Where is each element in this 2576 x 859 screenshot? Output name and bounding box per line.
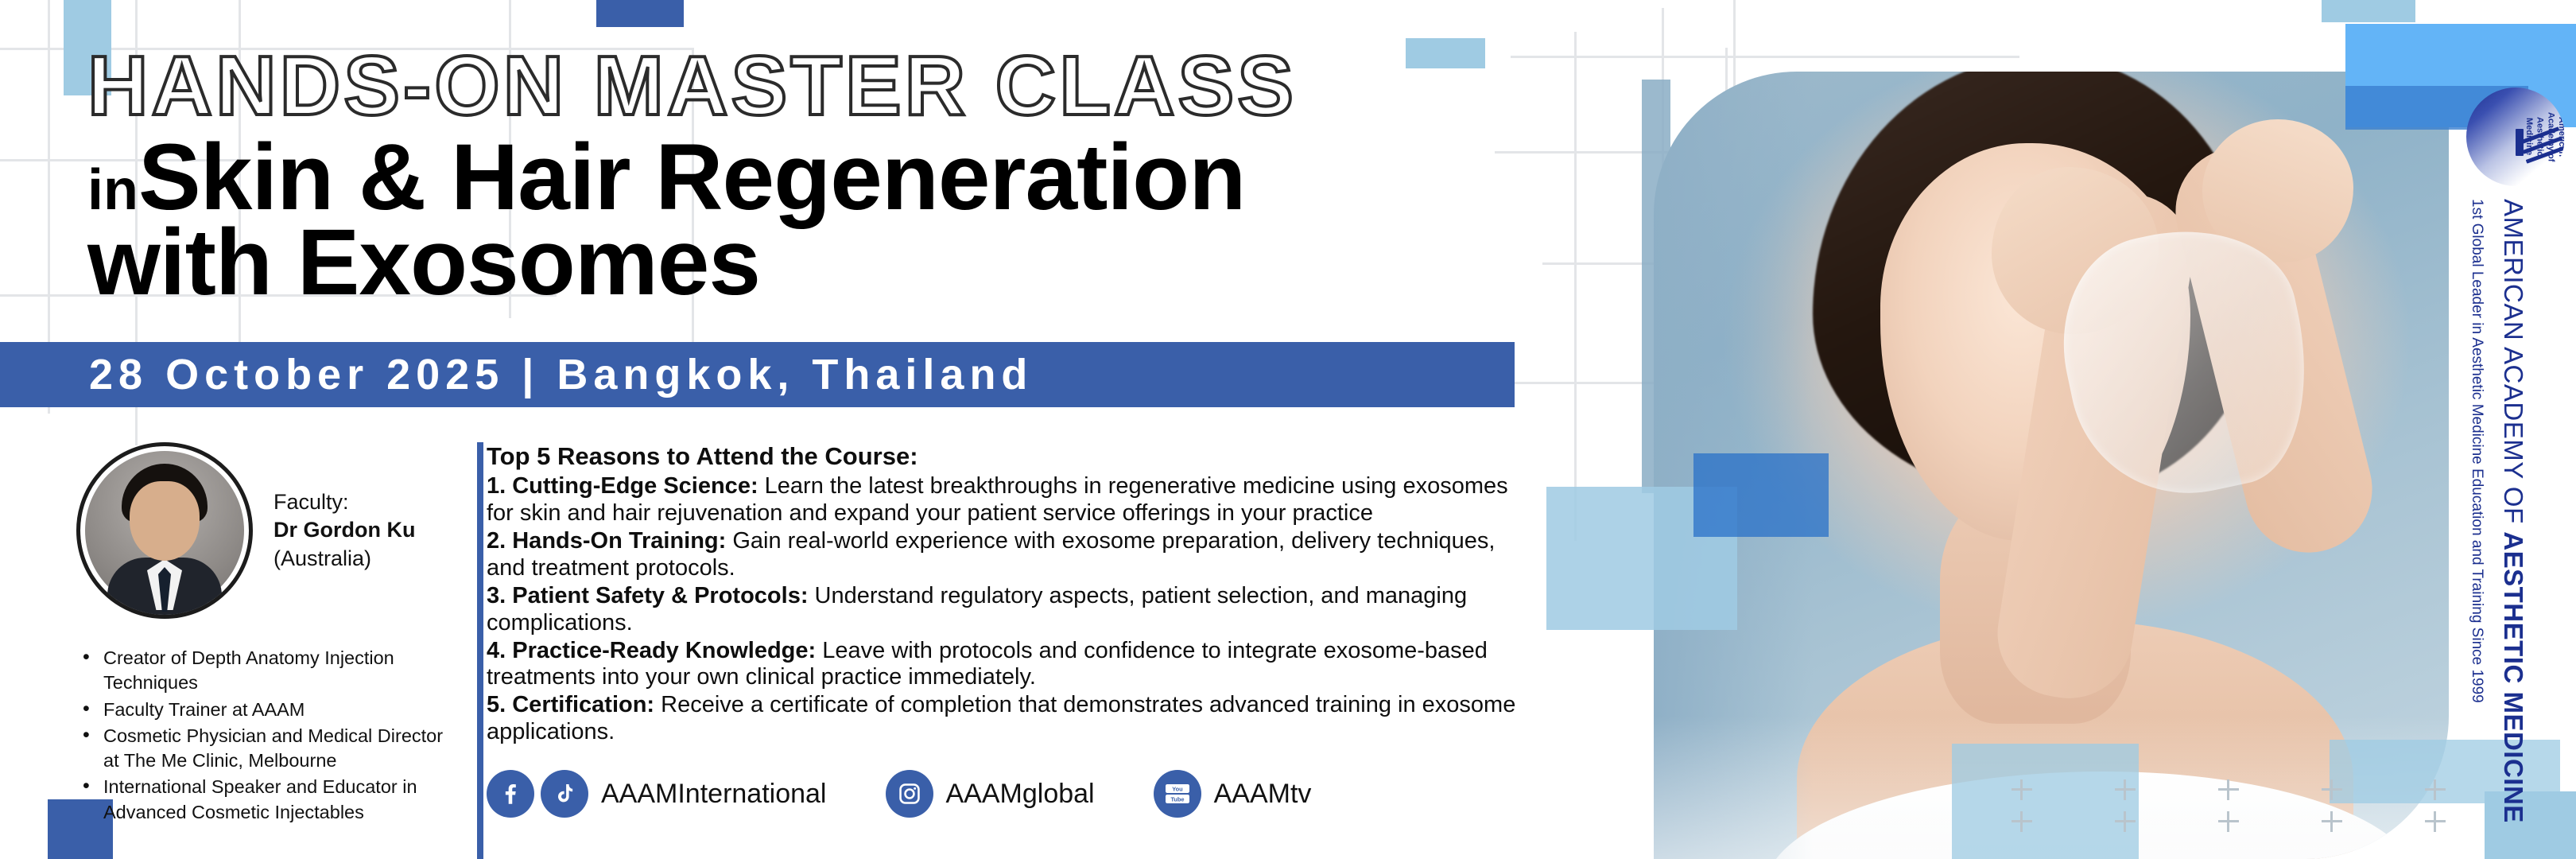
social-group-youtube: You Tube AAAMtv: [1154, 770, 1371, 818]
reasons-section: Top 5 Reasons to Attend the Course: 1. C…: [487, 442, 1536, 747]
reason-item: 1. Cutting-Edge Science: Learn the lates…: [487, 473, 1536, 527]
reason-lead: 3. Patient Safety & Protocols:: [487, 583, 809, 608]
social-group-facebook-tiktok: AAAMInternational: [487, 770, 886, 818]
svg-text:Tube: Tube: [1170, 796, 1184, 803]
list-item: International Speaker and Educator in Ad…: [76, 775, 458, 825]
faculty-credentials-list: Creator of Depth Anatomy Injection Techn…: [76, 646, 458, 825]
aaam-logo-icon: American Academy of Aesthetic Medicine: [2466, 87, 2565, 186]
reason-lead: 1. Cutting-Edge Science:: [487, 473, 758, 499]
list-item: Faculty Trainer at AAAM: [76, 698, 458, 722]
social-links: AAAMInternational AAAMglobal You Tube AA…: [487, 770, 1370, 818]
social-handle[interactable]: AAAMInternational: [601, 779, 827, 810]
faculty-name: Dr Gordon Ku: [274, 516, 415, 545]
faculty-country: (Australia): [274, 545, 415, 573]
instagram-icon[interactable]: [886, 770, 933, 818]
brand-title-regular: AMERICAN ACADEMY OF: [2499, 199, 2528, 531]
svg-text:You: You: [1172, 786, 1183, 793]
reason-lead: 2. Hands-On Training:: [487, 528, 726, 554]
promotional-banner: HANDS-ON MASTER CLASS inSkin & Hair Rege…: [0, 0, 2576, 859]
faculty-meta: Faculty: Dr Gordon Ku (Australia): [274, 488, 415, 573]
social-handle[interactable]: AAAMtv: [1214, 779, 1312, 810]
reason-lead: 4. Practice-Ready Knowledge:: [487, 638, 816, 663]
date-location-bar: 28 October 2025 | Bangkok, Thailand: [0, 342, 1515, 407]
faculty-section: Faculty: Dr Gordon Ku (Australia) Creato…: [76, 442, 458, 843]
vertical-divider: [477, 442, 483, 859]
deco-square-9: [1693, 453, 1829, 537]
facebook-icon[interactable]: [487, 770, 534, 818]
brand-strip: American Academy of Aesthetic Medicine A…: [2457, 0, 2576, 859]
reason-item: 4. Practice-Ready Knowledge: Leave with …: [487, 638, 1536, 692]
social-handle[interactable]: AAAMglobal: [946, 779, 1095, 810]
date-location-text: 28 October 2025 | Bangkok, Thailand: [89, 350, 1033, 399]
tiktok-icon[interactable]: [541, 770, 588, 818]
brand-title-bold: AESTHETIC MEDICINE: [2499, 531, 2528, 823]
social-group-instagram: AAAMglobal: [886, 770, 1154, 818]
deco-square-2: [596, 0, 684, 27]
title-main-2: with Exosomes: [87, 210, 760, 315]
reasons-title: Top 5 Reasons to Attend the Course:: [487, 442, 1536, 471]
faculty-header: Faculty: Dr Gordon Ku (Australia): [76, 442, 458, 619]
faculty-label: Faculty:: [274, 488, 415, 517]
youtube-icon[interactable]: You Tube: [1154, 770, 1201, 818]
list-item: Cosmetic Physician and Medical Director …: [76, 724, 458, 774]
deco-square-10: [1952, 744, 2139, 859]
deco-square-4: [2322, 0, 2415, 22]
brand-tagline: 1st Global Leader in Aesthetic Medicine …: [2468, 199, 2485, 835]
title-outline: HANDS-ON MASTER CLASS: [87, 44, 1519, 128]
title-line-1: inSkin & Hair Regeneration: [87, 133, 1519, 223]
reason-item: 5. Certification: Receive a certificate …: [487, 692, 1536, 746]
headline-block: HANDS-ON MASTER CLASS inSkin & Hair Rege…: [87, 44, 1519, 309]
reason-item: 3. Patient Safety & Protocols: Understan…: [487, 583, 1536, 637]
title-line-2: with Exosomes: [87, 218, 1519, 308]
list-item: Creator of Depth Anatomy Injection Techn…: [76, 646, 458, 696]
avatar: [76, 442, 253, 619]
reason-lead: 5. Certification:: [487, 692, 654, 717]
brand-title: AMERICAN ACADEMY OF AESTHETIC MEDICINE: [2498, 199, 2528, 835]
reason-item: 2. Hands-On Training: Gain real-world ex…: [487, 528, 1536, 582]
